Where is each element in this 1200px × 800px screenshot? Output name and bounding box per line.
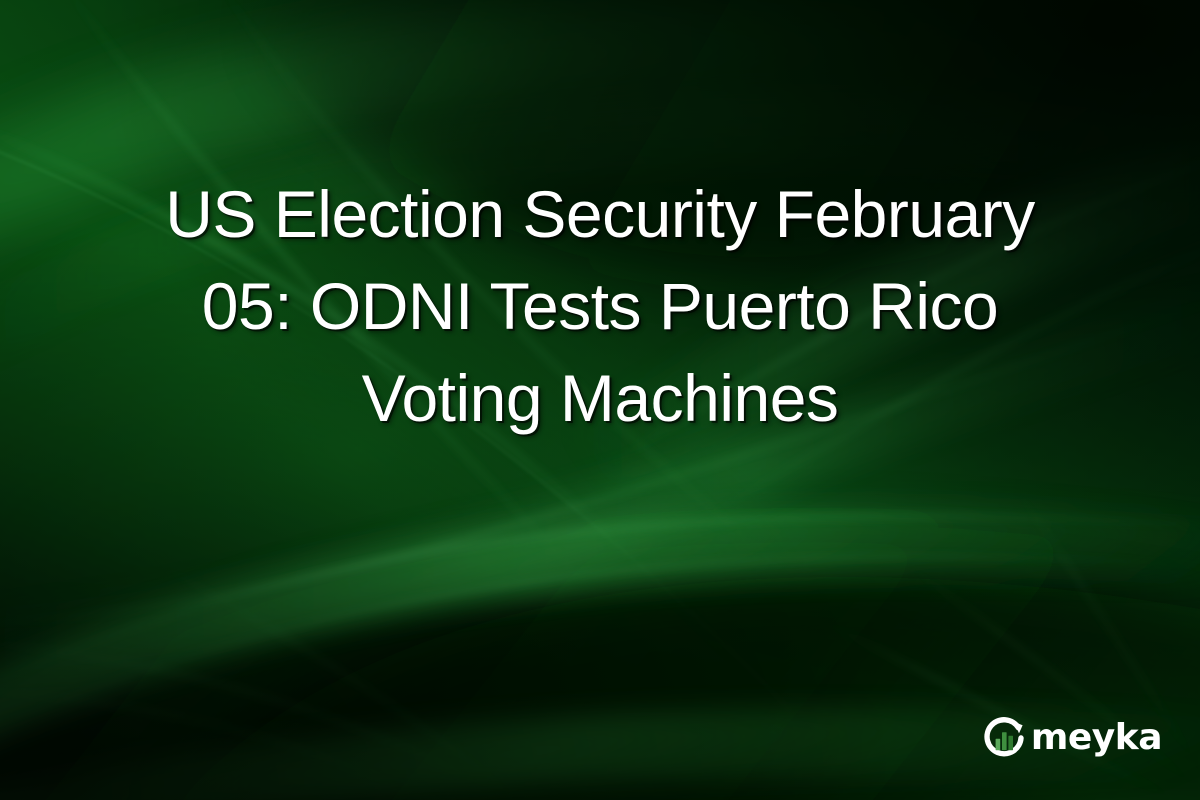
brand-name: meyka [1031,718,1162,758]
meyka-logo-icon [981,714,1029,762]
background-artwork [0,0,1200,800]
brand-logo[interactable]: meyka [981,714,1166,762]
article-cover: US Election Security February 05: ODNI T… [0,0,1200,800]
